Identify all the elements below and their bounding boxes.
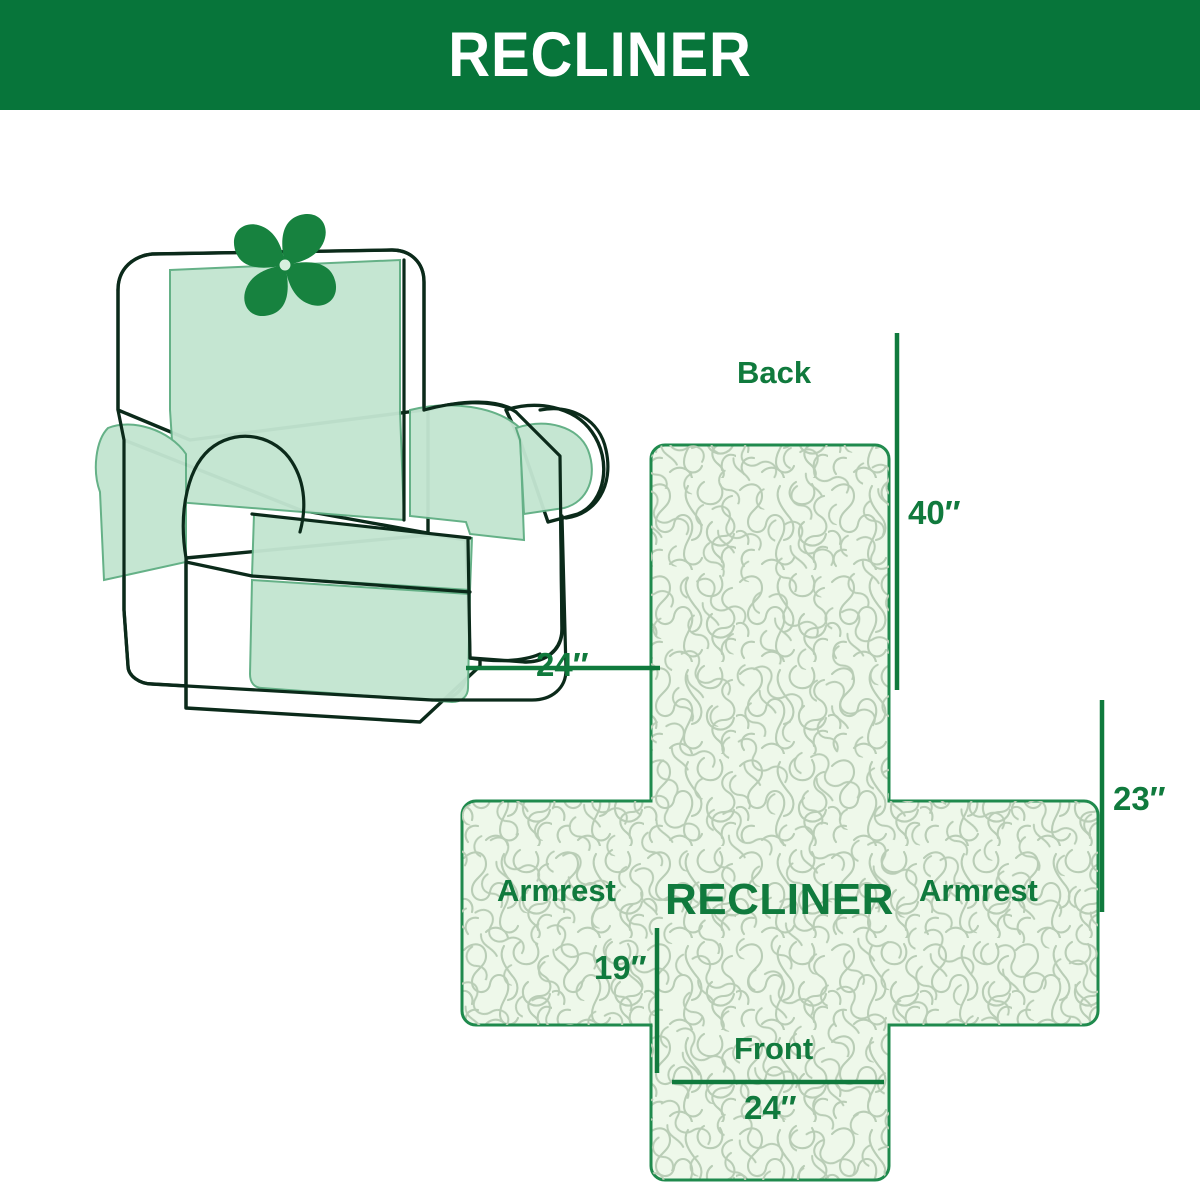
pattern-center-label: RECLINER (665, 878, 894, 922)
diagram-svg (0, 110, 1200, 1200)
panel-label-armrest-left: Armrest (497, 875, 616, 906)
recliner-illustration (96, 214, 608, 722)
pinwheel-fan-icon (234, 214, 336, 316)
page-title: RECLINER (448, 24, 752, 87)
dimension-label-24-top: 24″ (536, 648, 589, 681)
dimension-label-40: 40″ (908, 496, 961, 529)
panel-label-back: Back (737, 357, 811, 388)
dimension-label-23: 23″ (1113, 782, 1166, 815)
header-banner: RECLINER (0, 0, 1200, 110)
dimension-label-19: 19″ (594, 951, 647, 984)
diagram-canvas: Back RECLINER Armrest Armrest Front 40″ … (0, 110, 1200, 1200)
panel-label-front: Front (734, 1033, 813, 1064)
dimension-label-24-bottom: 24″ (744, 1091, 797, 1124)
panel-label-armrest-right: Armrest (919, 875, 1038, 906)
